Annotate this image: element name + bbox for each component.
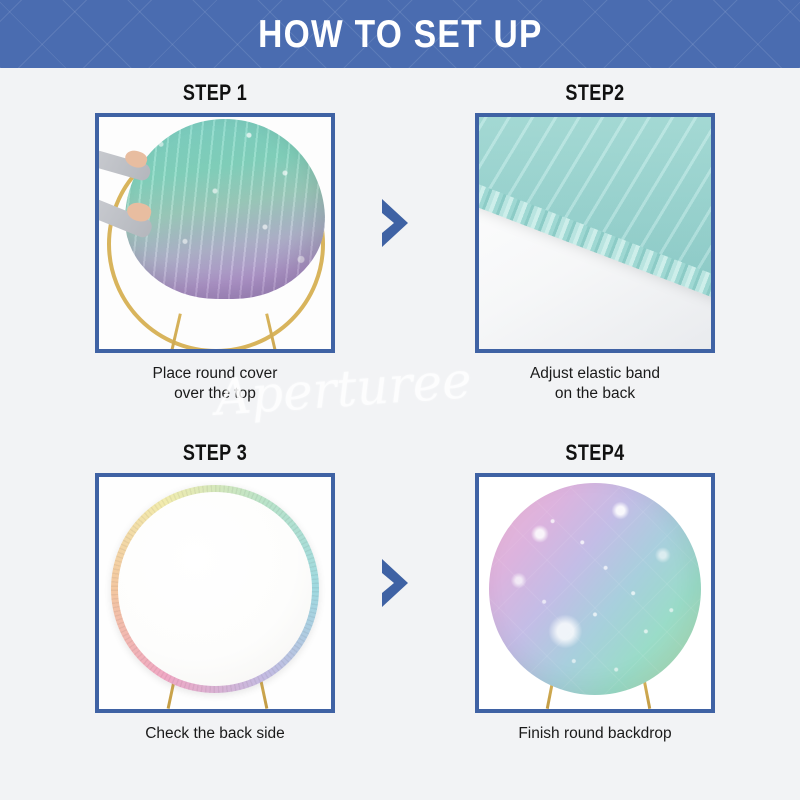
step-title-4: STEP4 <box>456 442 735 464</box>
step-caption-2: Adjust elastic band on the back <box>425 364 765 405</box>
step-title-1: STEP 1 <box>76 82 355 104</box>
step-caption-1-line1: Place round cover <box>45 364 385 384</box>
step-card-3: STEP 3 Check the back side <box>45 442 385 744</box>
step-caption-4-line1: Finish round backdrop <box>425 724 765 744</box>
step-caption-2-line2: on the back <box>425 384 765 404</box>
backdrop-back-side-disc <box>111 485 319 693</box>
step-card-2: STEP2 Adjust elastic band on the back <box>425 82 765 405</box>
step-card-1: STEP 1 Place round cover over the top <box>45 82 385 405</box>
step-caption-1: Place round cover over the top <box>45 364 385 405</box>
step-image-3 <box>95 473 335 713</box>
finished-round-backdrop <box>489 483 701 695</box>
step-caption-4: Finish round backdrop <box>425 724 765 744</box>
step-title-3: STEP 3 <box>76 442 355 464</box>
step-caption-2-line1: Adjust elastic band <box>425 364 765 384</box>
step-card-4: STEP4 Finish round backdrop <box>425 442 765 744</box>
step-image-1 <box>95 113 335 353</box>
chevron-right-icon-bottom <box>378 557 412 609</box>
step-caption-3-line1: Check the back side <box>45 724 385 744</box>
step-title-2: STEP2 <box>456 82 735 104</box>
step-caption-3: Check the back side <box>45 724 385 744</box>
page-title: HOW TO SET UP <box>258 15 542 54</box>
steps-grid: STEP 1 Place round cover over the top ST… <box>0 68 800 800</box>
white-back-face <box>118 492 312 686</box>
step-image-4 <box>475 473 715 713</box>
page-header: HOW TO SET UP <box>0 0 800 68</box>
chevron-right-icon-top <box>378 197 412 249</box>
step-caption-1-line2: over the top <box>45 384 385 404</box>
step-image-2 <box>475 113 715 353</box>
